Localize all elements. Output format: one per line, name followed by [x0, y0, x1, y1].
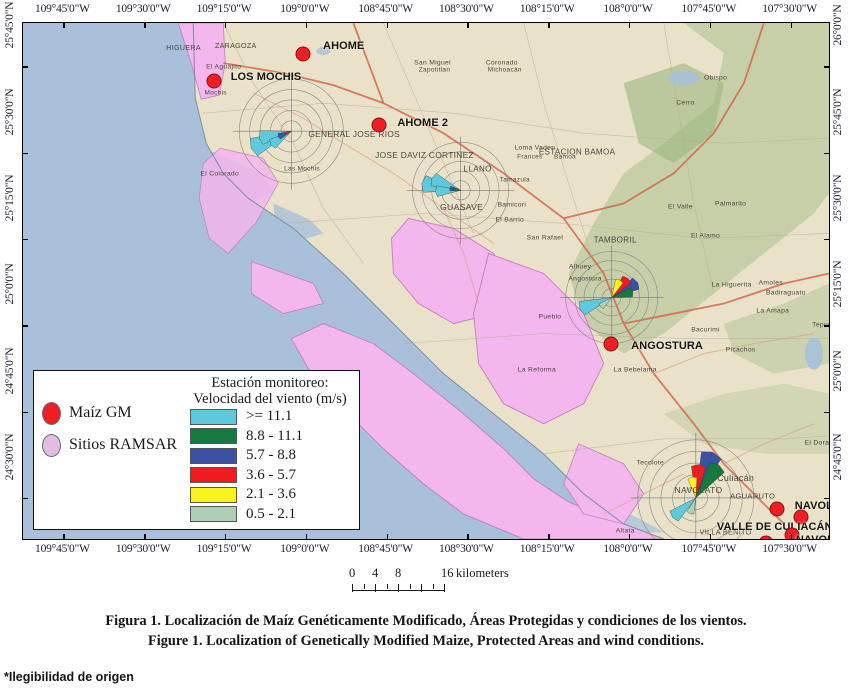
- scale-bar-tick: [387, 584, 388, 589]
- scale-bar-tick: [433, 584, 434, 589]
- wind-class-label: 8.8 - 11.1: [246, 428, 303, 445]
- right-axis-label-1: 25°45'0"N: [832, 88, 844, 135]
- right-axis-labels: 26°0'0"N25°45'0"N25°30'0"N25°15'0"N25°0'…: [832, 22, 850, 537]
- left-axis-label-5: 24°30'0"N: [4, 434, 16, 481]
- legend-wind-row: 8.8 - 11.1: [180, 427, 360, 447]
- legend-wind-row: 5.7 - 8.8: [180, 446, 360, 466]
- axis-tick: [306, 23, 307, 28]
- site-label: LOS MOCHIS: [231, 71, 302, 83]
- wind-class-swatch: [190, 487, 237, 503]
- bottom-axis-label-6: 108°15'0"W: [520, 543, 575, 555]
- axis-tick: [225, 23, 226, 28]
- axis-tick: [387, 534, 388, 539]
- scale-bar: 04816kilometers: [352, 566, 552, 591]
- scale-bar-tick: [410, 584, 411, 589]
- scale-bar-tick: [375, 584, 376, 592]
- wind-class-swatch: [190, 428, 237, 444]
- wind-class-swatch: [190, 506, 237, 522]
- right-axis-label-2: 25°30'0"N: [832, 175, 844, 222]
- maiz-gm-dot-icon: [604, 336, 619, 351]
- maiz-gm-swatch-icon: [42, 402, 61, 425]
- top-axis-label-5: 108°30'0"W: [439, 3, 494, 15]
- left-axis-label-4: 24°45'0"N: [4, 347, 16, 394]
- axis-tick: [824, 239, 829, 240]
- axis-tick: [23, 66, 28, 67]
- site-label: NAVOLATO 1: [796, 534, 830, 540]
- scale-bar-tick: [364, 584, 365, 589]
- scale-tick-label: 8: [395, 566, 401, 581]
- left-axis-label-0: 25°45'0"N: [4, 2, 16, 49]
- legend-wind-row: >= 11.1: [180, 407, 360, 427]
- site-label: VALLE DE CULIACÁN: [717, 521, 830, 533]
- right-axis-label-5: 24°45'0"N: [832, 434, 844, 481]
- legend-symbol-label: Maíz GM: [69, 404, 132, 422]
- axis-tick: [23, 153, 28, 154]
- legend-row-maiz-gm: Maíz GM: [42, 397, 182, 429]
- top-axis-label-2: 109°15'0"W: [197, 3, 252, 15]
- scale-tick-label: 16: [441, 566, 454, 581]
- axis-tick: [629, 534, 630, 539]
- bottom-axis-label-0: 109°45'0"W: [35, 543, 90, 555]
- top-axis-label-8: 107°45'0"W: [681, 3, 736, 15]
- axis-tick: [548, 534, 549, 539]
- site-label: ANGOSTURA: [631, 340, 703, 352]
- bottom-axis-label-4: 108°45'0"W: [358, 543, 413, 555]
- axis-tick: [824, 153, 829, 154]
- top-axis-label-4: 108°45'0"W: [358, 3, 413, 15]
- sitios-ramsar-swatch-icon: [42, 434, 61, 457]
- top-axis-label-6: 108°15'0"W: [520, 3, 575, 15]
- wind-class-label: 3.6 - 5.7: [246, 467, 296, 484]
- axis-tick: [824, 325, 829, 326]
- caption-english: Figure 1. Localization of Genetically Mo…: [0, 631, 852, 651]
- map-legend: Maíz GMSitios RAMSAR Estación monitoreo:…: [33, 370, 360, 530]
- top-axis-label-0: 109°45'0"W: [35, 3, 90, 15]
- legend-symbols: Maíz GMSitios RAMSAR: [42, 397, 182, 461]
- top-axis-label-7: 108°0'0"W: [603, 3, 652, 15]
- bottom-axis-label-5: 108°30'0"W: [439, 543, 494, 555]
- axis-tick: [548, 23, 549, 28]
- wind-class-swatch: [190, 448, 237, 464]
- maiz-gm-dot-icon: [758, 536, 773, 541]
- left-axis-label-3: 25°0'0"N: [4, 264, 16, 305]
- maiz-gm-dot-icon: [206, 74, 221, 89]
- axis-tick: [23, 239, 28, 240]
- scale-bar-tick: [352, 584, 353, 592]
- axis-tick: [23, 412, 28, 413]
- right-axis-label-3: 25°15'0"N: [832, 261, 844, 308]
- wind-class-label: 0.5 - 2.1: [246, 506, 296, 523]
- wind-class-swatch: [190, 409, 237, 425]
- scale-units-label: kilometers: [456, 566, 509, 581]
- maiz-gm-dot-icon: [769, 501, 784, 516]
- bottom-axis-label-8: 107°45'0"W: [681, 543, 736, 555]
- bottom-axis-label-9: 107°30'0"W: [762, 543, 817, 555]
- site-label: AHOME: [323, 40, 364, 52]
- axis-tick: [144, 534, 145, 539]
- maiz-gm-dot-icon: [372, 117, 387, 132]
- legend-wind-speed: Estación monitoreo: Velocidad del viento…: [180, 375, 360, 524]
- axis-tick: [791, 23, 792, 28]
- bottom-axis-label-3: 109°0'0"W: [280, 543, 329, 555]
- legend-symbol-label: Sitios RAMSAR: [69, 436, 177, 454]
- figure-container: 109°45'0"W109°30'0"W109°15'0"W109°0'0"W1…: [0, 0, 852, 691]
- axis-tick: [144, 23, 145, 28]
- left-axis-label-1: 25°30'0"N: [4, 88, 16, 135]
- top-axis-label-3: 109°0'0"W: [280, 3, 329, 15]
- figure-caption: Figura 1. Localización de Maíz Genéticam…: [0, 611, 852, 651]
- maiz-gm-dot-icon: [296, 47, 311, 62]
- wind-class-swatch: [190, 467, 237, 483]
- figure-footnote: *Ilegibilidad de origen: [4, 670, 134, 684]
- scale-tick-label: 0: [349, 566, 355, 581]
- legend-wind-title-line2: Velocidad del viento (m/s): [180, 391, 360, 407]
- top-axis-labels: 109°45'0"W109°30'0"W109°15'0"W109°0'0"W1…: [0, 3, 852, 19]
- right-axis-label-0: 26°0'0"N: [832, 5, 844, 46]
- axis-tick: [824, 66, 829, 67]
- site-label: AHOME 2: [397, 117, 448, 129]
- axis-tick: [306, 534, 307, 539]
- scale-tick-label: 4: [372, 566, 378, 581]
- scale-bar-numbers: 04816kilometers: [352, 566, 552, 581]
- top-axis-label-1: 109°30'0"W: [116, 3, 171, 15]
- wind-class-label: 2.1 - 3.6: [246, 486, 296, 503]
- wind-class-label: >= 11.1: [246, 408, 292, 425]
- wind-class-label: 5.7 - 8.8: [246, 447, 296, 464]
- scale-bar-tick: [421, 584, 422, 592]
- axis-tick: [63, 23, 64, 28]
- legend-wind-row: 2.1 - 3.6: [180, 485, 360, 505]
- axis-tick: [467, 23, 468, 28]
- left-axis-label-2: 25°15'0"N: [4, 175, 16, 222]
- scale-bar-tick: [398, 584, 399, 592]
- bottom-axis-label-7: 108°0'0"W: [603, 543, 652, 555]
- axis-tick: [467, 534, 468, 539]
- axis-tick: [824, 498, 829, 499]
- top-axis-label-9: 107°30'0"W: [762, 3, 817, 15]
- axis-tick: [710, 534, 711, 539]
- axis-tick: [23, 498, 28, 499]
- bottom-axis-labels: 109°45'0"W109°30'0"W109°15'0"W109°0'0"W1…: [0, 543, 852, 559]
- axis-tick: [824, 412, 829, 413]
- axis-tick: [387, 23, 388, 28]
- bottom-axis-label-2: 109°15'0"W: [197, 543, 252, 555]
- axis-tick: [791, 534, 792, 539]
- legend-row-sitios-ramsar: Sitios RAMSAR: [42, 429, 182, 461]
- legend-wind-row: 3.6 - 5.7: [180, 466, 360, 486]
- right-axis-label-4: 25°0'0"N: [832, 350, 844, 391]
- scale-bar-graphic: [352, 582, 552, 591]
- axis-tick: [629, 23, 630, 28]
- legend-wind-class-list: >= 11.18.8 - 11.15.7 - 8.83.6 - 5.72.1 -…: [180, 407, 360, 524]
- axis-tick: [63, 534, 64, 539]
- caption-spanish: Figura 1. Localización de Maíz Genéticam…: [0, 611, 852, 631]
- left-axis-labels: 25°45'0"N25°30'0"N25°15'0"N25°0'0"N24°45…: [4, 22, 22, 537]
- legend-wind-row: 0.5 - 2.1: [180, 505, 360, 525]
- legend-wind-title-line1: Estación monitoreo:: [180, 375, 360, 391]
- axis-tick: [710, 23, 711, 28]
- bottom-axis-label-1: 109°30'0"W: [116, 543, 171, 555]
- axis-tick: [23, 325, 28, 326]
- scale-bar-tick: [444, 584, 445, 592]
- axis-tick: [225, 534, 226, 539]
